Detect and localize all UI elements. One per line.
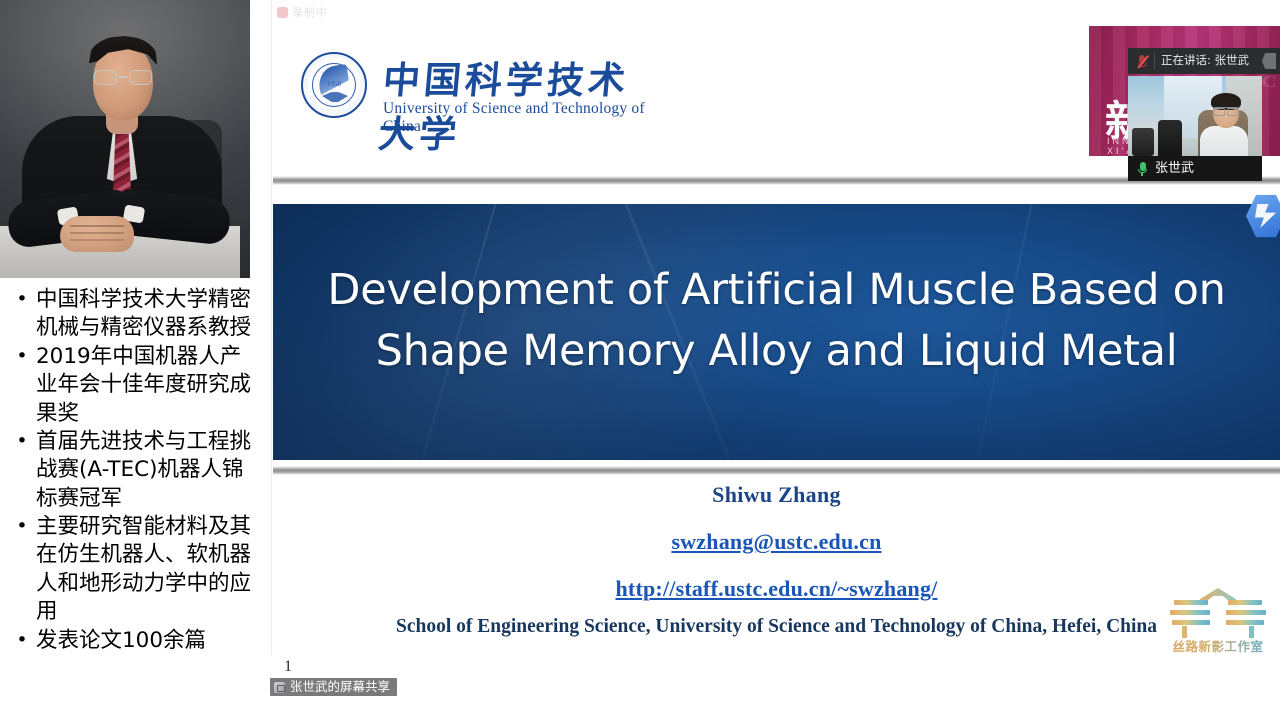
seal-year-label: 1958 [303,80,365,88]
participant-name-label: 张世武 [1155,162,1194,175]
participant-video-feed [1128,76,1262,156]
bullet-icon: • [8,343,36,369]
author-email-link[interactable]: swzhang@ustc.edu.cn [273,529,1280,555]
screen-share-view: • 中国科学技术大学精密机械与精密仪器系教授 • 2019年中国机器人产业年会十… [0,0,1280,720]
active-speaker-toast[interactable]: 正在讲话: 张世武 [1128,48,1280,74]
participant-video-tile[interactable]: 张世武 [1128,76,1262,181]
portrait-clasped-hands [60,216,134,252]
list-item: • 发表论文100余篇 [8,627,258,655]
slide-number-label: 1 [284,658,292,676]
record-dot-icon [277,7,288,18]
gate-bar [1170,610,1210,615]
bullet-icon: • [8,627,36,653]
list-item: • 首届先进技术与工程挑战赛(A-TEC)机器人锦标赛冠军 [8,428,258,513]
gate-bar [1172,620,1210,625]
recording-watermark-label: 录制中 [292,4,328,20]
toast-separator [1154,53,1155,69]
active-speaker-label: 正在讲话: 张世武 [1161,55,1249,67]
video-person-glasses [1214,107,1238,113]
video-foreground-object [1158,120,1182,156]
gate-bar [1228,600,1262,605]
list-item: • 2019年中国机器人产业年会十佳年度研究成果奖 [8,343,258,428]
bullet-icon: • [8,513,36,539]
gate-bar [1226,620,1264,625]
ustc-english-name: University of Science and Technology of … [383,100,649,136]
slide-left-gutter [262,0,272,655]
video-person-torso [1200,126,1248,156]
glasses-left-lens [94,70,117,85]
gate-logo-icon [1170,588,1266,636]
glasses-bridge [118,76,128,78]
bio-bullet-text: 首届先进技术与工程挑战赛(A-TEC)机器人锦标赛冠军 [36,428,258,513]
bullet-icon: • [8,428,36,454]
portrait-glasses [93,70,153,85]
microphone-muted-icon [1136,54,1148,69]
speaker-portrait-photo [0,0,250,278]
author-homepage-link[interactable]: http://staff.ustc.edu.cn/~swzhang/ [273,576,1280,602]
bio-bullet-text: 主要研究智能材料及其在仿生机器人、软机器人和地形动力学中的应用 [36,513,258,627]
bio-bullet-text: 发表论文100余篇 [36,627,258,655]
bullet-icon: • [8,286,36,312]
slide-author-block: Shiwu Zhang swzhang@ustc.edu.cn http://s… [273,482,1280,638]
recording-watermark: 录制中 [277,4,328,20]
slide-divider-bottom [273,466,1280,475]
bio-bullet-list: • 中国科学技术大学精密机械与精密仪器系教授 • 2019年中国机器人产业年会十… [8,286,258,655]
gate-bar [1174,600,1208,605]
video-foreground-object [1132,128,1154,156]
bio-bullet-text: 2019年中国机器人产业年会十佳年度研究成果奖 [36,343,258,428]
ustc-logo: 1958 中国科学技术大学 University of Science and … [289,48,649,132]
microphone-active-icon[interactable] [1136,161,1148,177]
gate-bar [1226,610,1266,615]
author-name: Shiwu Zhang [273,482,1280,508]
list-item: • 中国科学技术大学精密机械与精密仪器系教授 [8,286,258,343]
ustc-seal-icon: 1958 [301,52,367,118]
screen-share-icon [274,682,285,693]
badge-glyph [1255,204,1277,228]
studio-watermark: 丝路新影工作室 [1168,578,1268,655]
speaker-bio-list: • 中国科学技术大学精密机械与精密仪器系教授 • 2019年中国机器人产业年会十… [0,280,262,655]
participant-name-bar: 张世武 [1128,156,1262,181]
page-title: Development of Artificial Muscle Based o… [287,260,1266,382]
screen-share-label: 张世武的屏幕共享 [290,681,390,694]
speaker-bio-panel: • 中国科学技术大学精密机械与精密仪器系教授 • 2019年中国机器人产业年会十… [0,0,262,720]
slide-title-band: Development of Artificial Muscle Based o… [273,204,1280,460]
author-affiliation: School of Engineering Science, Universit… [273,616,1280,638]
screen-share-status-bar: 张世武的屏幕共享 [270,678,397,696]
mic-post [1141,173,1143,176]
collapse-panel-icon[interactable] [1262,53,1276,69]
glasses-right-lens [129,70,152,85]
studio-watermark-label: 丝路新影工作室 [1168,636,1268,655]
list-item: • 主要研究智能材料及其在仿生机器人、软机器人和地形动力学中的应用 [8,513,258,627]
bio-bullet-text: 中国科学技术大学精密机械与精密仪器系教授 [36,286,258,343]
